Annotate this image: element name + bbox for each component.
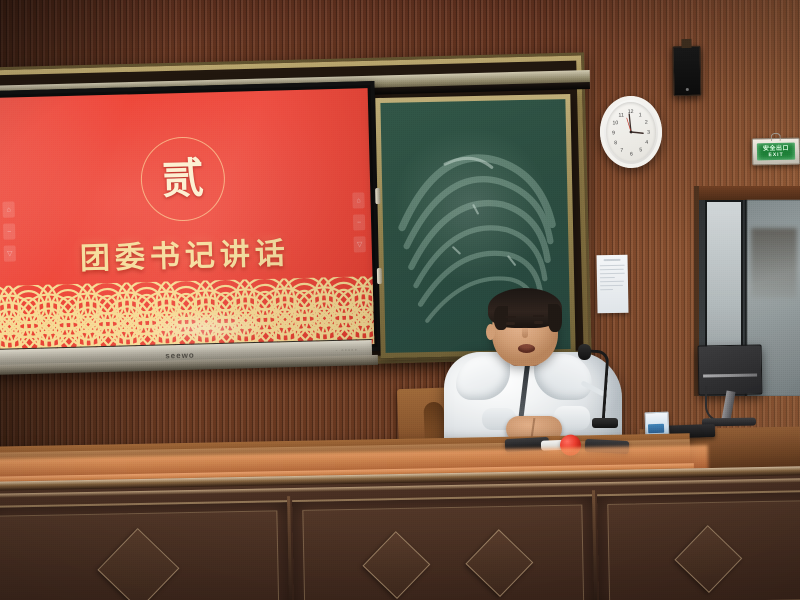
- diamond-inlay: [465, 529, 533, 597]
- gooseneck-microphone-base: [592, 418, 618, 428]
- podium-panel-3: [597, 490, 800, 600]
- chalkboard-hinge-top: [375, 188, 380, 204]
- podium-panel-1-inner: [0, 510, 279, 600]
- home-icon-right[interactable]: ⌂: [352, 192, 364, 208]
- wall-speaker: [673, 46, 702, 96]
- chalkboard-hinge-bottom: [377, 268, 382, 284]
- ear: [486, 324, 495, 340]
- exit-sign-english-label: EXIT: [768, 151, 783, 157]
- screen-side-buttons-left[interactable]: ⌂ − ▽: [2, 201, 16, 261]
- home-icon[interactable]: ⌂: [2, 201, 14, 217]
- svg-text:8: 8: [614, 140, 617, 146]
- diamond-inlay: [362, 531, 430, 599]
- svg-text:5: 5: [639, 147, 642, 153]
- svg-text:3: 3: [647, 130, 650, 136]
- minus-icon[interactable]: −: [3, 223, 15, 239]
- svg-text:6: 6: [630, 151, 633, 157]
- slide-numeral: 贰: [161, 157, 204, 200]
- podium-panel-2: [292, 494, 594, 600]
- monitor-back-strip: [703, 374, 757, 378]
- hair-side-right: [548, 304, 562, 332]
- exit-sign-face: 安全出口 EXIT: [757, 143, 795, 161]
- interactive-display[interactable]: 贰 团委书记讲话 ⌂ − ▽ ⌂ − ▽: [0, 81, 381, 361]
- speaker-led-icon: [686, 88, 689, 91]
- svg-text:1: 1: [639, 112, 642, 118]
- chevron-down-icon-right[interactable]: ▽: [353, 236, 365, 252]
- eyebrow-right: [533, 315, 544, 317]
- gooseneck-microphone-head[interactable]: [578, 344, 591, 360]
- minus-icon-right[interactable]: −: [353, 214, 365, 230]
- chevron-down-icon[interactable]: ▽: [4, 245, 16, 261]
- svg-text:11: 11: [618, 113, 624, 119]
- screen-window-reflection: [139, 309, 270, 346]
- slide-numeral-circle: 贰: [140, 136, 226, 222]
- display-brand-label: seewo: [165, 350, 195, 360]
- front-podium: [0, 466, 800, 600]
- exit-sign: 安全出口 EXIT: [752, 138, 800, 166]
- svg-text:10: 10: [612, 120, 618, 126]
- screen-side-buttons-right[interactable]: ⌂ − ▽: [352, 192, 366, 252]
- diamond-inlay: [674, 525, 742, 593]
- exit-sign-hanger: [771, 133, 781, 141]
- svg-text:9: 9: [612, 130, 615, 136]
- speaker-bracket: [681, 39, 691, 48]
- mouth: [518, 344, 535, 353]
- diamond-inlay: [97, 528, 179, 600]
- podium-panel-1: [0, 500, 289, 600]
- svg-text:7: 7: [620, 148, 623, 154]
- door-header: [699, 186, 800, 200]
- slide-title: 团委书记讲话: [79, 228, 290, 277]
- slide-screen[interactable]: 贰 团委书记讲话 ⌂ − ▽ ⌂ − ▽: [0, 88, 374, 354]
- svg-text:2: 2: [645, 120, 648, 126]
- display-port-indicators: · ▫▫▫▫▫: [335, 347, 358, 354]
- eye-right: [534, 321, 543, 324]
- podium-panel-2-inner: [302, 504, 584, 600]
- eyebrow-left: [505, 316, 516, 318]
- nose: [522, 326, 528, 338]
- clock-face: 12 1 2 3 4 5 6 7 8 9 10 11: [605, 102, 656, 163]
- eye-left: [506, 322, 515, 325]
- svg-text:4: 4: [645, 140, 648, 146]
- podium-panel-3-inner: [607, 500, 800, 600]
- photo-scene: 贰 团委书记讲话 ⌂ − ▽ ⌂ − ▽: [0, 0, 800, 600]
- wall-clock: 12 1 2 3 4 5 6 7 8 9 10 11: [599, 95, 662, 168]
